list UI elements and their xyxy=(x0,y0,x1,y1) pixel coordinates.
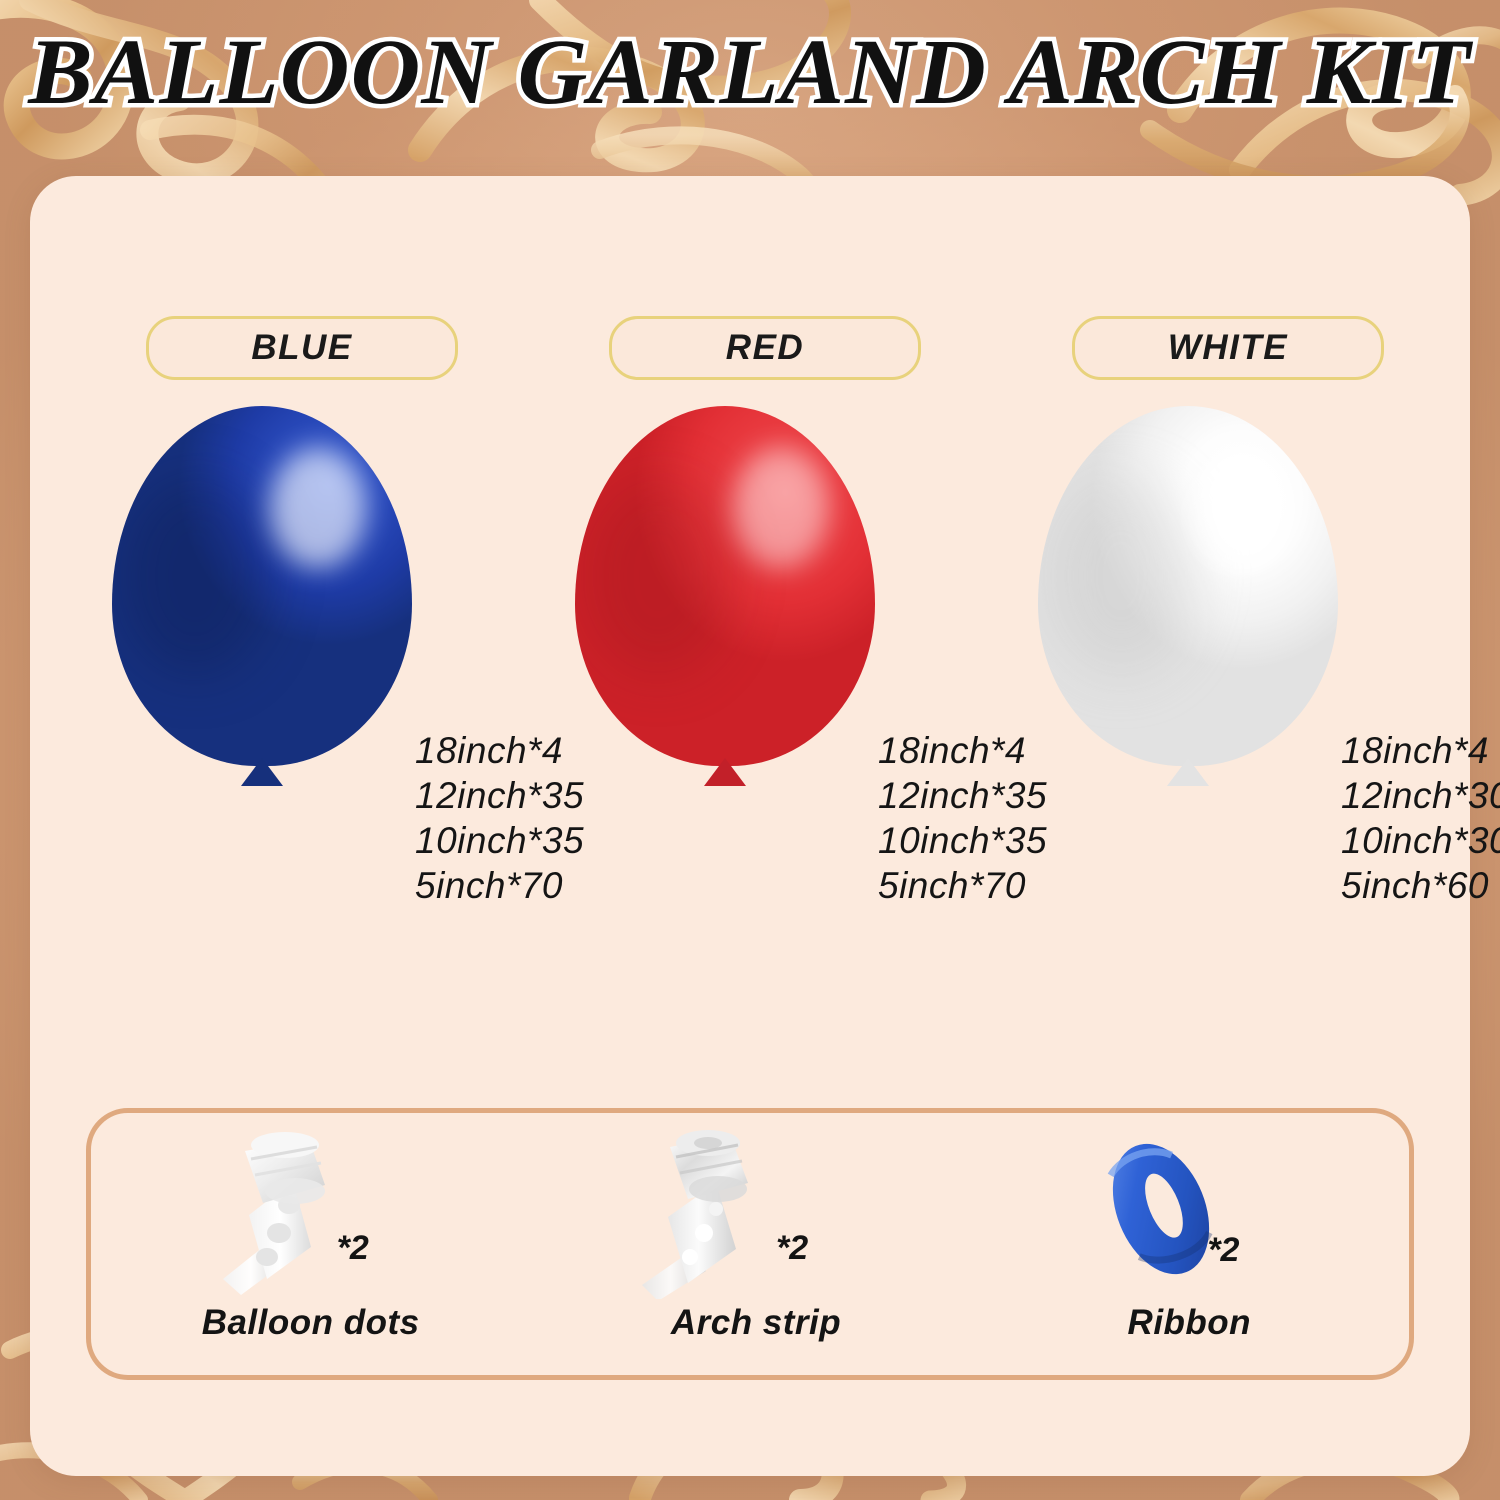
accessories-panel: *2 Balloon dots xyxy=(86,1108,1414,1380)
spec-line: 18inch*4 xyxy=(1341,728,1500,773)
color-label-text: WHITE xyxy=(1168,328,1288,368)
ribbon-spool-icon xyxy=(1071,1129,1271,1299)
color-label-pill-red: RED xyxy=(609,316,921,380)
accessory-qty: *2 xyxy=(337,1229,369,1268)
balloon-icon-white xyxy=(1038,406,1338,796)
balloon-body xyxy=(575,406,875,766)
color-label-pill-white: WHITE xyxy=(1072,316,1384,380)
accessory-arch-strip: *2 Arch strip xyxy=(530,1113,969,1375)
balloon-highlight xyxy=(270,448,366,568)
balloon-shadow xyxy=(120,476,270,676)
color-column-red: RED 18inch*4 12inch*35 10inch*35 5inch*7… xyxy=(553,316,1016,1076)
balloon-body xyxy=(1038,406,1338,766)
content-card: BLUE 18inch*4 12inch*35 10inch*35 5inch*… xyxy=(30,176,1470,1476)
balloon-highlight xyxy=(1196,448,1292,568)
accessories-row: *2 Balloon dots xyxy=(91,1113,1409,1375)
color-column-white: WHITE 18inch*4 12inch*30 10inch*30 5inch… xyxy=(1016,316,1479,1076)
accessory-ribbon: *2 Ribbon xyxy=(970,1113,1409,1375)
spec-line: 10inch*30 xyxy=(1341,818,1500,863)
accessory-qty: *2 xyxy=(1207,1231,1239,1270)
glue-dot-roll-icon xyxy=(193,1129,393,1299)
accessory-qty: *2 xyxy=(776,1229,808,1268)
page-title-container: BALLOON GARLAND ARCH KIT xyxy=(0,26,1500,119)
accessory-name: Balloon dots xyxy=(91,1303,530,1343)
accessory-balloon-dots: *2 Balloon dots xyxy=(91,1113,530,1375)
product-infographic: BLUE 18inch*4 12inch*35 10inch*35 5inch*… xyxy=(0,0,1500,1500)
page-title: BALLOON GARLAND ARCH KIT xyxy=(29,26,1472,119)
accessory-name: Ribbon xyxy=(970,1303,1409,1343)
balloon-shadow xyxy=(583,476,733,676)
color-column-blue: BLUE 18inch*4 12inch*35 10inch*35 5inch*… xyxy=(90,316,553,1076)
spec-list-white: 18inch*4 12inch*30 10inch*30 5inch*60 xyxy=(1341,728,1500,909)
balloon-icon-red xyxy=(575,406,875,796)
balloon-color-columns: BLUE 18inch*4 12inch*35 10inch*35 5inch*… xyxy=(90,316,1480,1076)
balloon-icon-blue xyxy=(112,406,412,796)
balloon-shadow xyxy=(1046,476,1196,676)
accessory-name: Arch strip xyxy=(530,1303,975,1343)
balloon-highlight xyxy=(733,448,829,568)
spec-line: 5inch*60 xyxy=(1341,863,1500,908)
color-label-text: BLUE xyxy=(251,328,352,368)
color-label-text: RED xyxy=(726,328,804,368)
balloon-body xyxy=(112,406,412,766)
color-label-pill-blue: BLUE xyxy=(146,316,458,380)
spec-line: 12inch*30 xyxy=(1341,773,1500,818)
arch-strip-roll-icon xyxy=(632,1129,832,1299)
